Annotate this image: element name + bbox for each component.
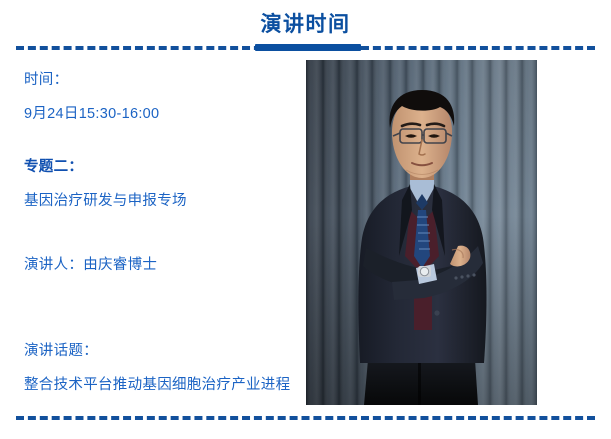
card-header: 演讲时间 <box>0 0 611 50</box>
time-value: 9月24日15:30-16:00 <box>24 104 159 124</box>
speaker-info-card: 演讲时间 时间： 9月24日15:30-16:00 专题二： 基因治疗研发与申报… <box>0 0 611 439</box>
speaker-portrait-photo <box>306 60 537 405</box>
subject-value: 整合技术平台推动基因细胞治疗产业进程 <box>24 375 290 395</box>
time-label: 时间： <box>24 70 68 90</box>
portrait-illustration <box>306 60 537 405</box>
subject-label: 演讲话题： <box>24 341 98 361</box>
speaker-name-line: 演讲人：由庆睿博士 <box>24 255 157 275</box>
topic-label: 专题二： <box>24 157 83 177</box>
divider-bottom-dashed <box>16 416 595 420</box>
page-title: 演讲时间 <box>0 12 611 38</box>
details-column: 时间： 9月24日15:30-16:00 专题二： 基因治疗研发与申报专场 演讲… <box>24 60 289 410</box>
divider-accent-bar <box>255 44 361 51</box>
topic-value: 基因治疗研发与申报专场 <box>24 191 187 211</box>
